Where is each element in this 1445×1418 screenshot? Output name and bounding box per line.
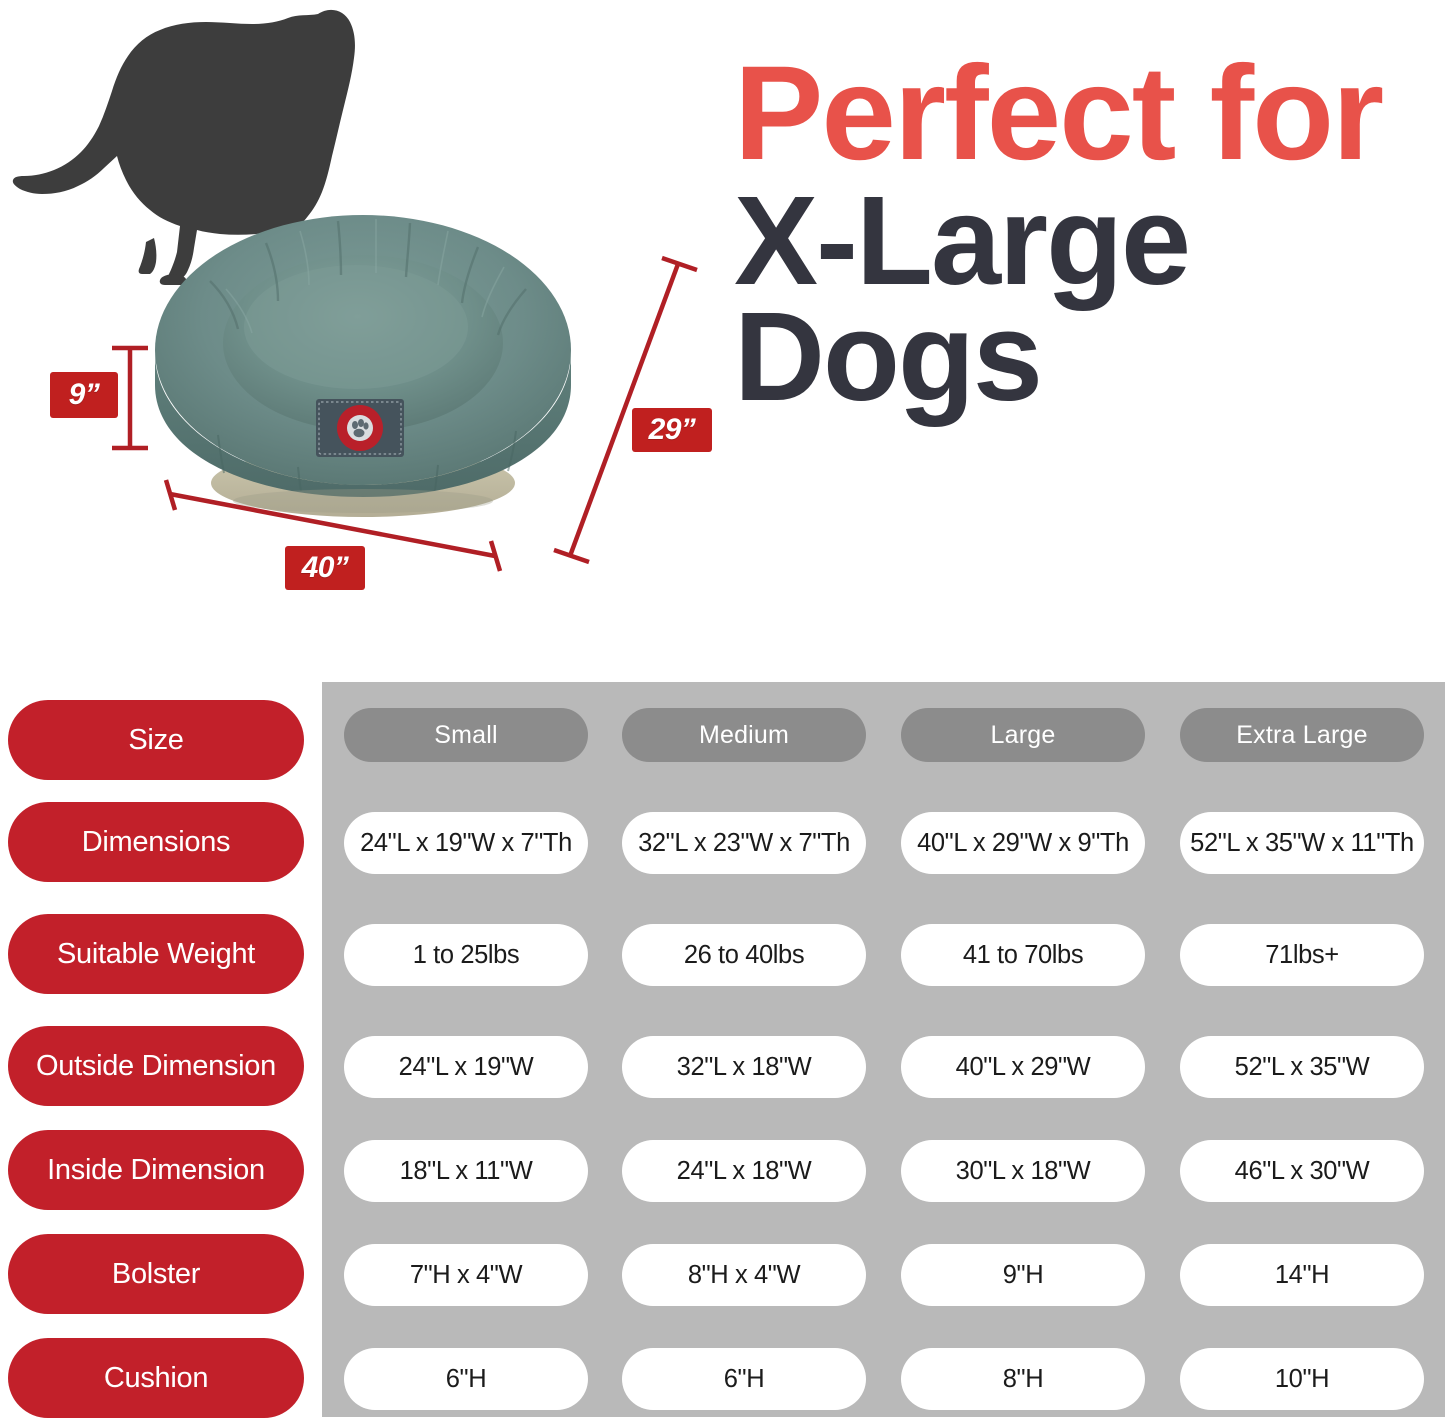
column-header-small: Small (344, 708, 588, 762)
cell-dimensions-large: 40"L x 29"W x 9"Th (901, 812, 1145, 874)
cell-suitable-weight-small: 1 to 25lbs (344, 924, 588, 986)
headline-line-dogs: Dogs (734, 299, 1434, 415)
cell-cushion-medium: 6"H (622, 1348, 866, 1410)
cell-inside-dimension-extra-large: 46"L x 30"W (1180, 1140, 1424, 1202)
cell-bolster-large: 9"H (901, 1244, 1145, 1306)
cell-suitable-weight-large: 41 to 70lbs (901, 924, 1145, 986)
column-header-large: Large (901, 708, 1145, 762)
cell-bolster-medium: 8"H x 4"W (622, 1244, 866, 1306)
row-label-cushion: Cushion (8, 1338, 304, 1418)
cell-outside-dimension-small: 24"L x 19"W (344, 1036, 588, 1098)
headline-line-perfect-for: Perfect for (734, 52, 1434, 175)
cell-inside-dimension-medium: 24"L x 18"W (622, 1140, 866, 1202)
cell-dimensions-medium: 32"L x 23"W x 7"Th (622, 812, 866, 874)
cell-suitable-weight-extra-large: 71lbs+ (1180, 924, 1424, 986)
cell-cushion-extra-large: 10"H (1180, 1348, 1424, 1410)
dimension-label-width: 29” (632, 408, 712, 452)
cell-suitable-weight-medium: 26 to 40lbs (622, 924, 866, 986)
cell-dimensions-extra-large: 52"L x 35"W x 11"Th (1180, 812, 1424, 874)
column-header-extra-large: Extra Large (1180, 708, 1424, 762)
cell-inside-dimension-large: 30"L x 18"W (901, 1140, 1145, 1202)
row-label-inside-dimension: Inside Dimension (8, 1130, 304, 1210)
headline-line-x-large: X-Large (734, 183, 1434, 299)
hero-section: 9” 40” 29” Perfect for X-Large Dogs (0, 0, 1445, 672)
row-label-dimensions: Dimensions (8, 802, 304, 882)
headline: Perfect for X-Large Dogs (734, 52, 1434, 415)
spec-table: SizeDimensionsSuitable WeightOutside Dim… (0, 672, 1445, 1417)
cell-cushion-large: 8"H (901, 1348, 1145, 1410)
row-label-size: Size (8, 700, 304, 780)
row-label-suitable-weight: Suitable Weight (8, 914, 304, 994)
cell-inside-dimension-small: 18"L x 11"W (344, 1140, 588, 1202)
dimension-label-height: 9” (50, 372, 118, 418)
cell-outside-dimension-medium: 32"L x 18"W (622, 1036, 866, 1098)
column-header-medium: Medium (622, 708, 866, 762)
dimension-label-length: 40” (285, 546, 365, 590)
row-label-bolster: Bolster (8, 1234, 304, 1314)
cell-cushion-small: 6"H (344, 1348, 588, 1410)
cell-bolster-small: 7"H x 4"W (344, 1244, 588, 1306)
row-label-outside-dimension: Outside Dimension (8, 1026, 304, 1106)
cell-outside-dimension-large: 40"L x 29"W (901, 1036, 1145, 1098)
cell-dimensions-small: 24"L x 19"W x 7"Th (344, 812, 588, 874)
cell-bolster-extra-large: 14"H (1180, 1244, 1424, 1306)
cell-outside-dimension-extra-large: 52"L x 35"W (1180, 1036, 1424, 1098)
